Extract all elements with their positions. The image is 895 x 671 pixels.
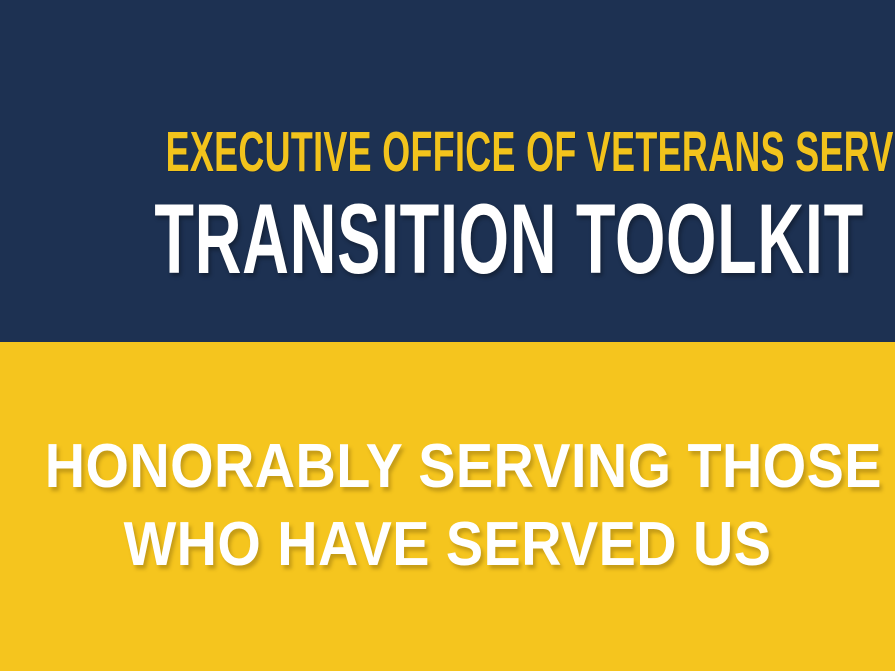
tagline: HONORABLY SERVING THOSE WHO HAVE SERVED … [45, 428, 851, 584]
page-title: TRANSITION TOOLKIT [154, 187, 740, 291]
header-band: EXECUTIVE OFFICE OF VETERANS SERVICES TR… [0, 0, 895, 342]
tagline-line-1: HONORABLY SERVING THOSE [45, 428, 851, 506]
tagline-band: HONORABLY SERVING THOSE WHO HAVE SERVED … [0, 342, 895, 671]
tagline-line-2: WHO HAVE SERVED US [45, 506, 851, 584]
organization-eyebrow: EXECUTIVE OFFICE OF VETERANS SERVICES [166, 122, 730, 182]
poster-canvas: EXECUTIVE OFFICE OF VETERANS SERVICES TR… [0, 0, 895, 671]
